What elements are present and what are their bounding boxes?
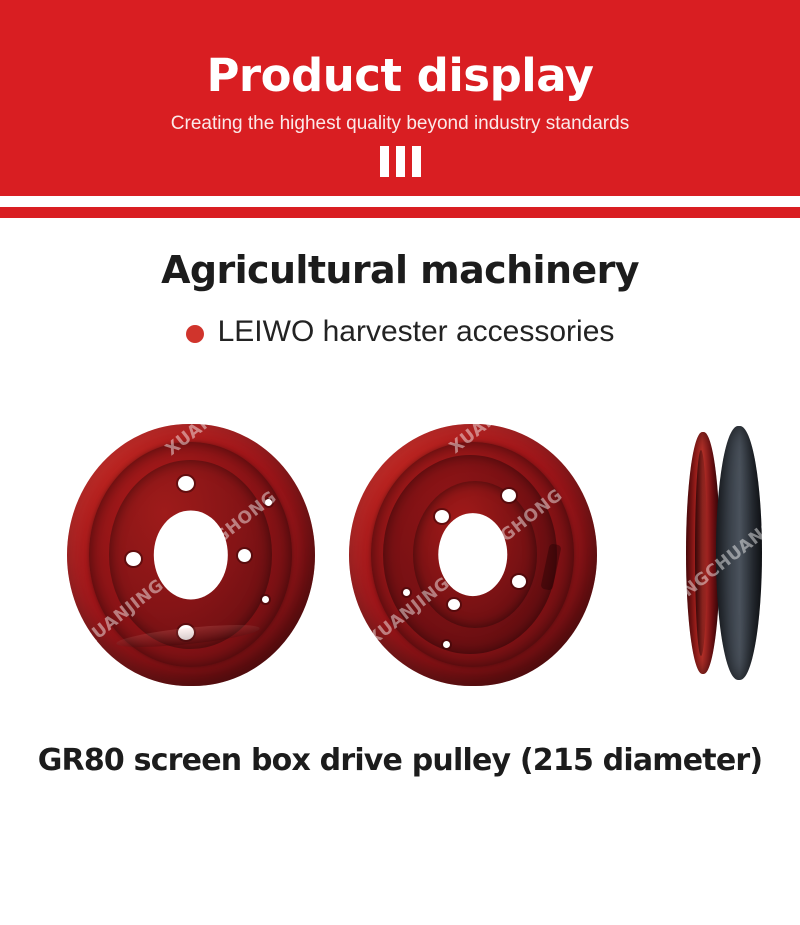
pulley-body — [67, 424, 315, 686]
bolt-hole — [448, 599, 460, 610]
bolt-hole — [262, 596, 269, 603]
bolt-hole — [502, 489, 516, 502]
page-title: Product display — [0, 50, 800, 102]
pulley-pair-side-profile — [682, 426, 768, 680]
pulley-disc-dark — [716, 426, 762, 680]
pulley-center-bore — [153, 510, 227, 599]
bolt-hole — [512, 575, 526, 588]
pulley-body — [349, 424, 597, 686]
product-image-side[interactable]: XUANJINGCHUANGHONG XUANJINGCHUANGHONG XU… — [660, 418, 790, 688]
bolt-hole — [178, 476, 194, 491]
page-subtitle: Creating the highest quality beyond indu… — [0, 112, 800, 136]
tally-bar-icon — [380, 146, 389, 177]
pulley-disc-red — [686, 432, 720, 674]
product-image-angled[interactable]: XUANJINGCHUANGHONG XUANJINGCHUANGHONG XU… — [340, 422, 605, 687]
tally-bar-icon — [412, 146, 421, 177]
watermark-text: XUANJINGCHUANGHONG — [660, 418, 790, 420]
bolt-hole — [238, 549, 251, 562]
product-image-front[interactable]: XUANJINGCHUANGHONG XUANJINGCHUANGHONG XU… — [58, 422, 323, 687]
header-accent-stripe — [0, 207, 800, 218]
bolt-hole — [403, 589, 410, 596]
product-caption: GR80 screen box drive pulley (215 diamet… — [0, 742, 800, 780]
header-banner: Product display Creating the highest qua… — [0, 0, 800, 196]
category-heading: Agricultural machinery — [0, 247, 800, 293]
pulley-center-bore — [438, 513, 507, 597]
tally-bar-icon — [396, 146, 405, 177]
category-subheading: LEIWO harvester accessories — [0, 314, 800, 350]
bolt-hole — [126, 552, 141, 566]
bullet-dot-icon — [186, 325, 204, 343]
header-mark-group — [0, 146, 800, 177]
category-subheading-label: LEIWO harvester accessories — [218, 314, 615, 350]
product-gallery: XUANJINGCHUANGHONG XUANJINGCHUANGHONG XU… — [0, 400, 800, 720]
